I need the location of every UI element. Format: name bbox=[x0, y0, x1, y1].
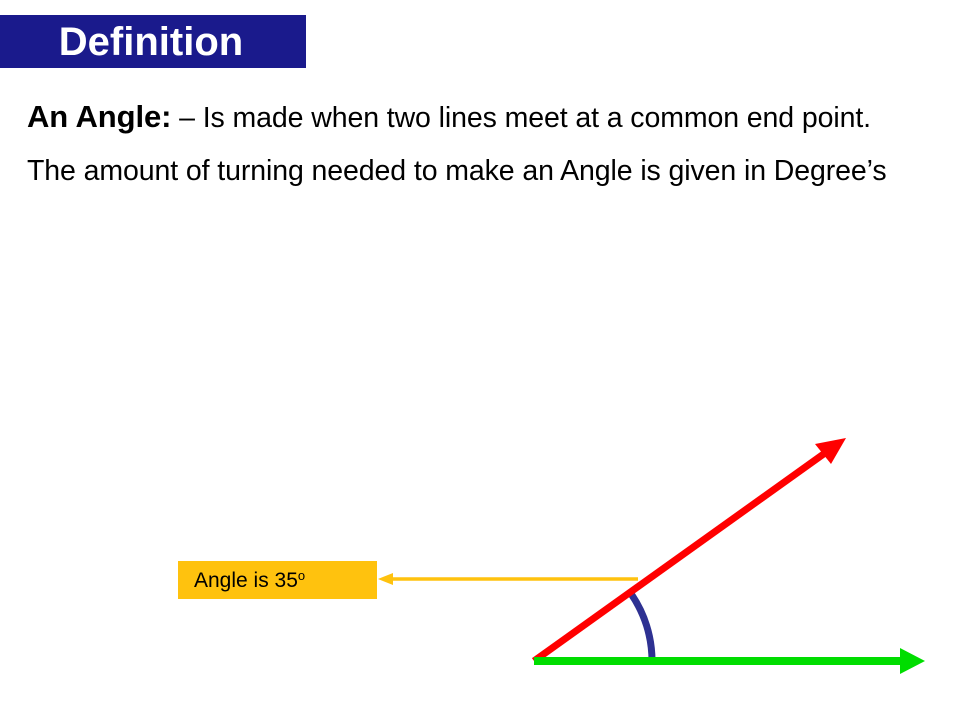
angle-callout-box: Angle is 35o bbox=[178, 561, 377, 599]
red-ray bbox=[534, 438, 846, 661]
title-banner: Definition bbox=[0, 15, 306, 68]
angle-callout-label: Angle is 35o bbox=[194, 569, 305, 591]
red-ray-line bbox=[534, 448, 832, 661]
degree-symbol-icon: o bbox=[298, 568, 305, 583]
definition-description: – Is made when two lines meet at a commo… bbox=[171, 102, 871, 134]
angle-callout-value: Angle is 35 bbox=[194, 569, 298, 592]
green-ray bbox=[534, 648, 925, 674]
slide-canvas: Definition An Angle: – Is made when two … bbox=[0, 0, 960, 720]
definition-term: An Angle: bbox=[27, 99, 171, 134]
body-text-block: An Angle: – Is made when two lines meet … bbox=[27, 96, 907, 191]
red-ray-arrowhead bbox=[815, 438, 846, 464]
page-title: Definition bbox=[55, 22, 251, 62]
definition-paragraph: An Angle: – Is made when two lines meet … bbox=[27, 96, 907, 138]
green-ray-arrowhead bbox=[900, 648, 925, 674]
callout-pointer-arrowhead bbox=[378, 573, 393, 585]
degrees-paragraph: The amount of turning needed to make an … bbox=[27, 153, 907, 191]
callout-pointer bbox=[378, 573, 638, 585]
angle-arc-main bbox=[631, 593, 652, 661]
